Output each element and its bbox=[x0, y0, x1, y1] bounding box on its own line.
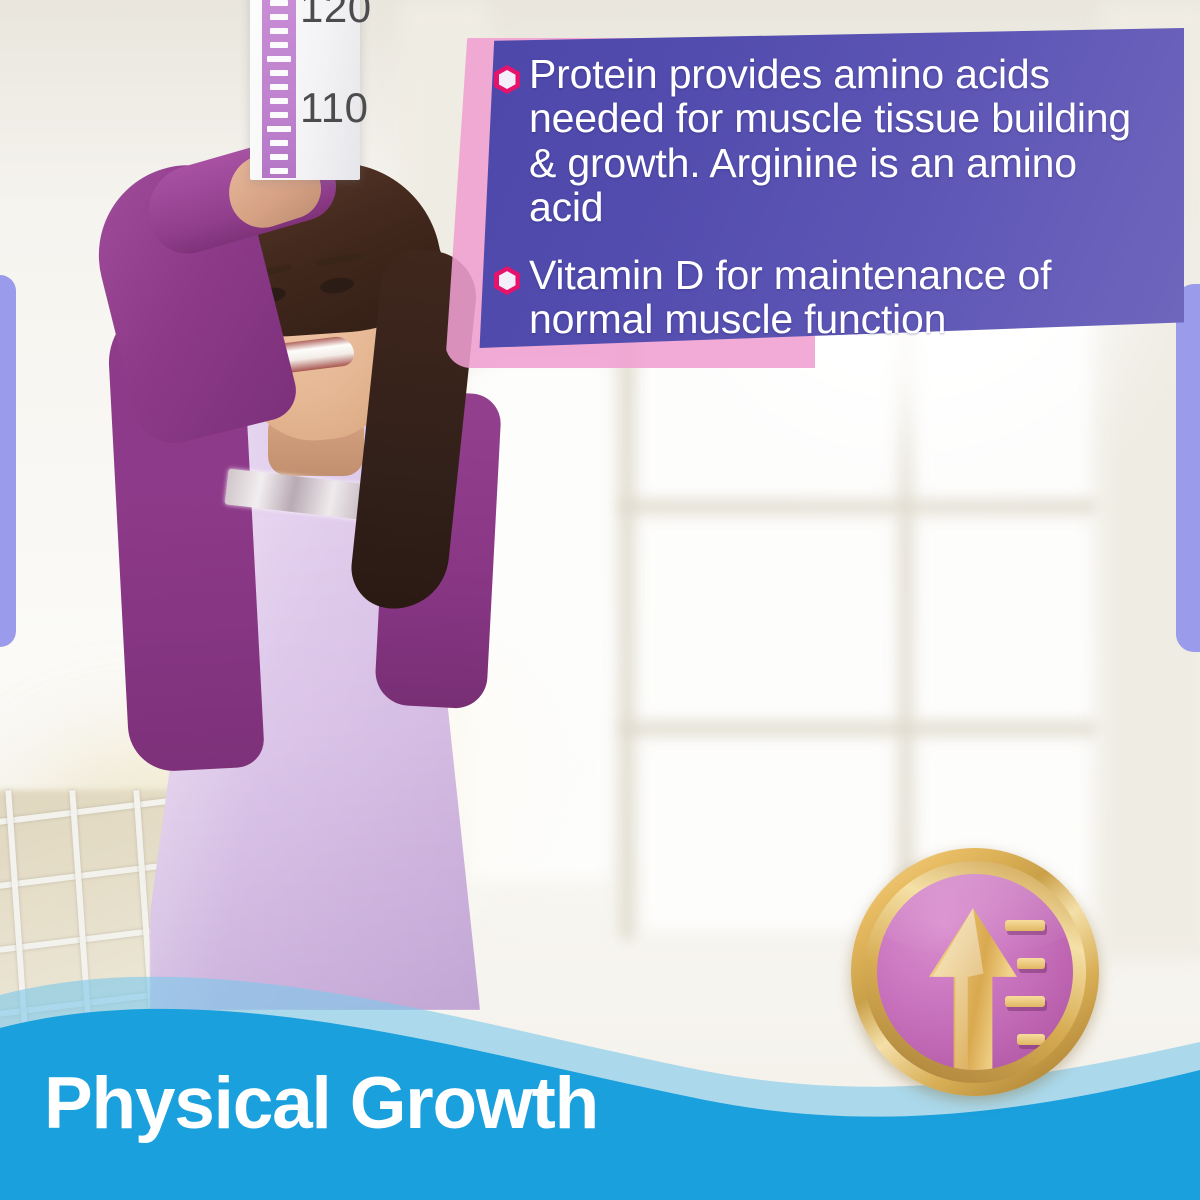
badge-face bbox=[877, 874, 1073, 1070]
height-chart-label-110: 110 bbox=[300, 84, 368, 132]
accent-pill-left bbox=[0, 275, 16, 647]
ruler-tick-icon bbox=[1005, 996, 1045, 1007]
bullet-text-protein: Protein provides amino acids needed for … bbox=[529, 52, 1154, 229]
window-mullion bbox=[620, 722, 1100, 735]
height-chart-tick bbox=[267, 126, 291, 132]
bullet-text-vitamin-d: Vitamin D for maintenance of normal musc… bbox=[529, 253, 1154, 342]
height-chart-tick bbox=[270, 42, 288, 48]
callout-content: Protein provides amino acids needed for … bbox=[494, 52, 1154, 366]
hexagon-bullet-icon bbox=[494, 266, 520, 295]
height-chart-label-120: 120 bbox=[300, 0, 372, 32]
height-chart-tick bbox=[270, 70, 288, 76]
poster-canvas: 120 110 Protein provides amino acids nee… bbox=[0, 0, 1200, 1200]
height-chart-tick bbox=[270, 154, 288, 160]
height-chart-tick bbox=[270, 0, 288, 6]
height-chart-tick bbox=[270, 168, 288, 174]
window-pane bbox=[640, 520, 890, 720]
ruler-tick-icon bbox=[1017, 1034, 1045, 1045]
height-chart-tick bbox=[270, 112, 288, 118]
ruler-tick-icon bbox=[1005, 920, 1045, 931]
ruler-tick-icon bbox=[1017, 958, 1045, 969]
hexagon-bullet-icon bbox=[494, 65, 520, 94]
height-chart-tick bbox=[270, 98, 288, 104]
list-item: Vitamin D for maintenance of normal musc… bbox=[494, 253, 1154, 342]
window-mullion bbox=[620, 280, 634, 940]
growth-badge bbox=[851, 848, 1099, 1096]
height-chart-tick bbox=[270, 140, 288, 146]
height-chart-tick bbox=[270, 28, 288, 34]
height-chart-tick bbox=[270, 84, 288, 90]
list-item: Protein provides amino acids needed for … bbox=[494, 52, 1154, 229]
window-pane bbox=[920, 520, 1090, 720]
callout-panel: Protein provides amino acids needed for … bbox=[440, 18, 1200, 378]
height-chart-strip bbox=[262, 0, 296, 178]
window-mullion bbox=[620, 500, 1100, 513]
height-chart-tick bbox=[270, 14, 288, 20]
page-title: Physical Growth bbox=[44, 1062, 598, 1145]
height-chart-tick bbox=[267, 56, 291, 62]
